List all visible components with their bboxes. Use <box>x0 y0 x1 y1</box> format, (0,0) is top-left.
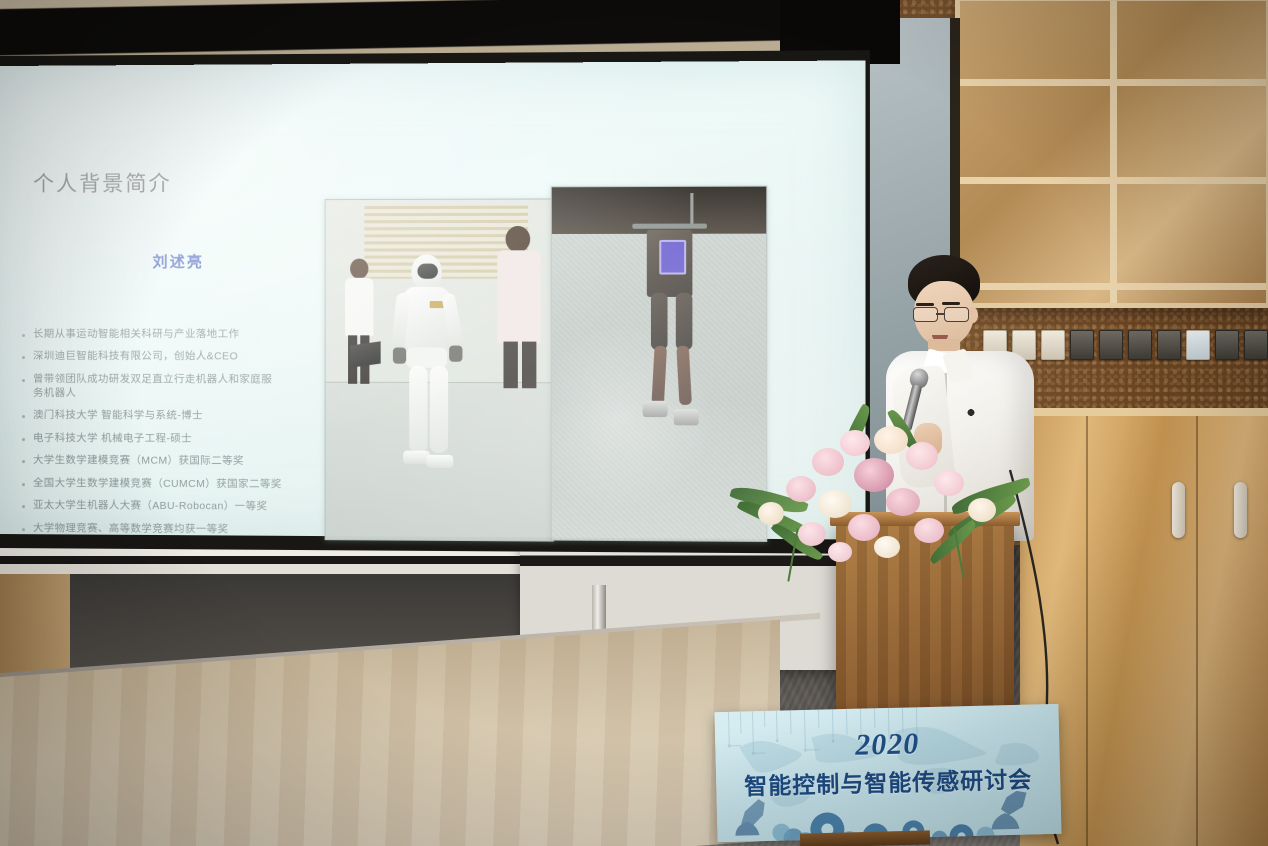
list-item: 大学生数学建模竞赛（MCM）获国际二等奖 <box>22 454 325 469</box>
photo-person-right <box>497 226 540 388</box>
slide-title: 个人背景简介 <box>33 167 172 198</box>
slide-bullet-list: 长期从事运动智能相关科研与产业落地工作 深圳迪巨智能科技有限公司，创始人&CEO… <box>22 328 325 546</box>
humanoid-robot-photo <box>325 198 554 541</box>
humanoid-robot <box>393 254 461 472</box>
glasses-icon <box>913 307 975 321</box>
floral-arrangement <box>728 418 1028 598</box>
bullet-text: 深圳迪巨智能科技有限公司，创始人&CEO <box>33 350 238 364</box>
bullet-text: 长期从事运动智能相关科研与产业落地工作 <box>33 328 239 342</box>
list-item: 亚太大学生机器人大赛（ABU-Robocan）一等奖 <box>22 499 325 515</box>
bullet-text: 电子科技大学 机械电子工程-硕士 <box>33 432 192 447</box>
bullet-dot-icon <box>22 334 25 337</box>
list-item: 澳门科技大学 智能科学与系统-博士 <box>22 409 325 424</box>
switch-plate[interactable] <box>1128 330 1152 360</box>
switch-plate[interactable] <box>1215 330 1239 360</box>
bullet-text: 大学生数学建模竞赛（MCM）获国际二等奖 <box>33 454 244 469</box>
photo-person-left <box>344 259 375 385</box>
list-item: 电子科技大学 机械电子工程-硕士 <box>22 432 325 447</box>
bullet-dot-icon <box>22 505 25 508</box>
event-banner: 2020 智能控制与智能传感研讨会 <box>714 704 1061 842</box>
list-item: 长期从事运动智能相关科研与产业落地工作 <box>22 328 325 342</box>
back-counter-left <box>0 548 540 574</box>
switch-plate[interactable] <box>1186 330 1210 360</box>
switch-plate[interactable] <box>1041 330 1065 360</box>
shirt-logo <box>966 407 976 418</box>
bullet-text: 全国大学生数学建模竞赛（CUMCM）获国家二等奖 <box>33 477 282 492</box>
laptop-icon <box>350 341 381 367</box>
list-item: 深圳迪巨智能科技有限公司，创始人&CEO <box>22 350 325 365</box>
bullet-text: 曾带领团队成功研发双足直立行走机器人和家庭服 务机器人 <box>33 373 272 402</box>
bullet-dot-icon <box>22 528 25 531</box>
bullet-dot-icon <box>22 483 25 486</box>
cabinet-handle[interactable] <box>1172 482 1185 538</box>
bullet-dot-icon <box>22 460 25 463</box>
switch-plate[interactable] <box>1070 330 1094 360</box>
cabinet-handle[interactable] <box>1234 482 1247 538</box>
switch-plate[interactable] <box>1244 330 1268 360</box>
switch-plate[interactable] <box>1157 330 1181 360</box>
list-item: 全国大学生数学建模竞赛（CUMCM）获国家二等奖 <box>22 477 325 493</box>
bullet-text: 亚太大学生机器人大赛（ABU-Robocan）一等奖 <box>33 499 267 514</box>
list-item: 曾带领团队成功研发双足直立行走机器人和家庭服 务机器人 <box>22 373 325 402</box>
banner-stand <box>800 830 930 846</box>
switch-plate[interactable] <box>1099 330 1123 360</box>
bullet-dot-icon <box>22 356 25 359</box>
list-item: 大学物理竞赛、高等数学竞赛均获一等奖 <box>22 522 325 538</box>
robot-display-panel <box>659 240 686 275</box>
bullet-dot-icon <box>22 438 25 441</box>
bullet-text: 澳门科技大学 智能科学与系统-博士 <box>33 409 203 424</box>
bullet-text: 大学物理竞赛、高等数学竞赛均获一等奖 <box>33 522 228 537</box>
presenter-name: 刘述亮 <box>153 251 204 272</box>
bullet-dot-icon <box>22 415 25 418</box>
presentation-scene-photo: 个人背景简介 刘述亮 长期从事运动智能相关科研与产业落地工作 深圳迪巨智能科技有… <box>0 0 1268 846</box>
bullet-dot-icon <box>22 379 25 382</box>
